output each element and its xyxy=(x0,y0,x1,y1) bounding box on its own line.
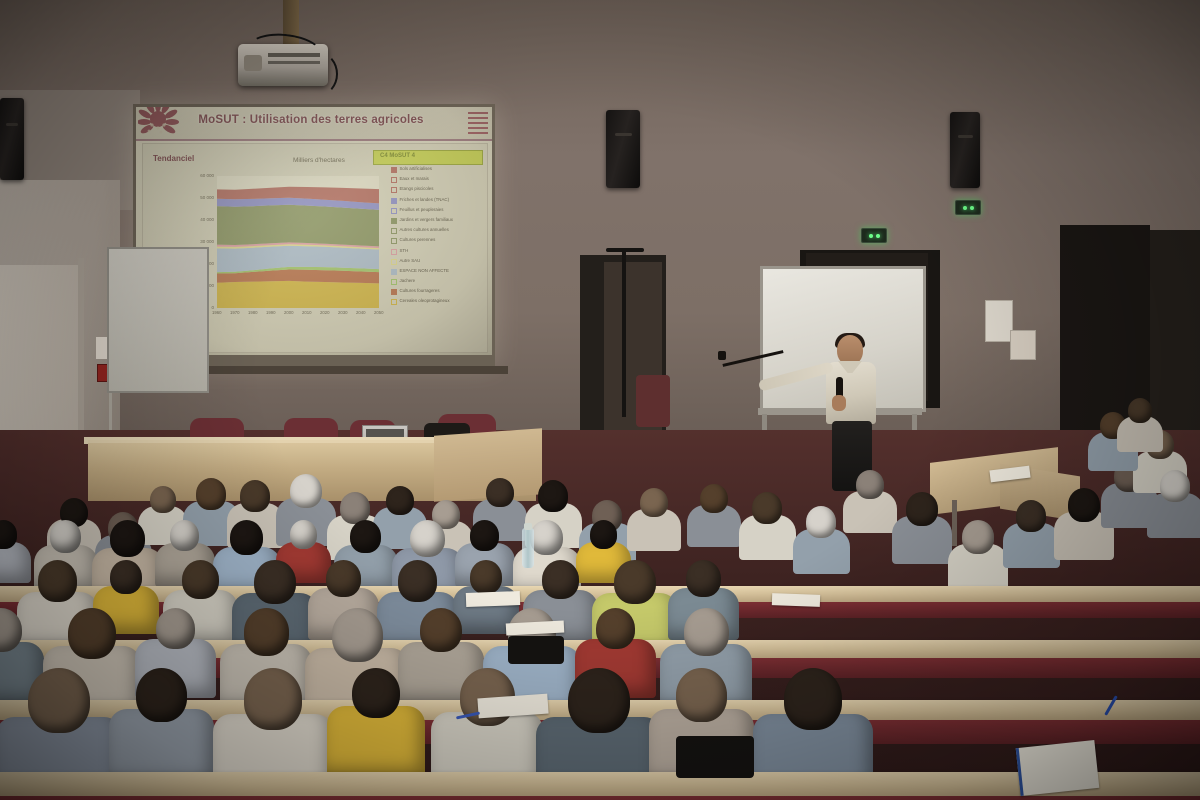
chart-y-tick-label: 30 000 xyxy=(200,239,214,244)
notebook xyxy=(1016,740,1100,796)
slide-title: MoSUT : Utilisation des terres agricoles xyxy=(196,114,426,126)
bag-on-desk xyxy=(508,636,564,664)
audience-member-head xyxy=(538,480,568,512)
legend-label: Cultures fourrageres xyxy=(400,288,440,293)
wall-speaker-right xyxy=(950,112,980,188)
chart-y-tick-label: 40 000 xyxy=(200,217,214,222)
chart-series-group xyxy=(217,176,379,308)
audience-member-head xyxy=(530,520,563,555)
legend-swatch-icon xyxy=(391,218,397,224)
legend-label: Cereales oleoprotagineux xyxy=(400,298,450,303)
audience-member-head xyxy=(752,492,782,524)
chart-x-tick-label: 2020 xyxy=(320,310,330,315)
chart-legend-item: Jardins et vergers familiaux xyxy=(391,217,483,224)
exit-sign-light xyxy=(876,234,880,238)
chart-legend-item: Jachere xyxy=(391,278,483,285)
lecture-hall-photo: MoSUT : Utilisation des terres agricoles… xyxy=(0,0,1200,800)
audience-member-head xyxy=(326,560,361,597)
slide-header: MoSUT : Utilisation des terres agricoles xyxy=(136,107,492,141)
stacked-area-chart: 010 00020 00030 00040 00050 00060 000 19… xyxy=(185,172,385,324)
audience-member-head xyxy=(352,668,400,718)
audience-member-head xyxy=(700,484,728,513)
wall-speaker-left xyxy=(0,98,24,180)
legend-swatch-icon xyxy=(391,289,397,295)
chart-x-tick-label: 1970 xyxy=(230,310,240,315)
chart-legend-item: Eaux et marais xyxy=(391,176,483,183)
chart-legend-item: Autre SAU xyxy=(391,258,483,265)
audience-member-head xyxy=(684,608,729,656)
legend-swatch-icon xyxy=(391,259,397,265)
audience-member-head xyxy=(182,560,219,599)
audience-member-head xyxy=(470,520,499,551)
chart-x-tick-label: 1990 xyxy=(266,310,276,315)
audience-member-head xyxy=(386,486,414,515)
slide-tag-badge: C4 MoSUT 4 xyxy=(373,150,483,165)
audience-member-head xyxy=(38,560,77,602)
chart-x-tick-label: 1980 xyxy=(248,310,258,315)
audience-member-head xyxy=(196,478,226,510)
audience-member-head xyxy=(340,492,370,524)
chart-legend-item: STH xyxy=(391,248,483,255)
audience-member-head xyxy=(28,668,90,733)
legend-swatch-icon xyxy=(391,299,397,305)
slide-decor-bars xyxy=(468,112,488,137)
audience-member-head xyxy=(290,474,322,508)
exit-sign-light xyxy=(970,206,974,210)
audience-member-head xyxy=(136,668,187,722)
legend-label: Etangs piscicoles xyxy=(400,186,434,191)
legend-swatch-icon xyxy=(391,238,397,244)
audience-member-head xyxy=(962,520,994,554)
emergency-exit-sign xyxy=(861,228,887,243)
chart-legend-item: Feuillus et peupleraies xyxy=(391,207,483,214)
chart-x-tick-label: 2000 xyxy=(284,310,294,315)
legend-label: Autre SAU xyxy=(400,258,421,263)
audience-member-head xyxy=(470,560,502,594)
chart-unit-label: Milliers d'hectares xyxy=(293,157,345,164)
audience-member-head xyxy=(240,480,270,512)
chart-x-tick-label: 1960 xyxy=(212,310,222,315)
pointer-tip xyxy=(718,351,726,360)
exit-sign-light xyxy=(963,206,967,210)
desk-front-panel xyxy=(0,796,1200,800)
chart-plot-area xyxy=(217,176,379,308)
audience-member-head xyxy=(254,560,296,604)
audience-member-head xyxy=(596,608,635,649)
audience-member-head xyxy=(590,520,617,549)
audience-member-head xyxy=(676,668,727,722)
audience-member-head xyxy=(486,478,514,507)
presenter-hand xyxy=(832,395,846,411)
legend-swatch-icon xyxy=(391,177,397,183)
chart-x-tick-label: 2010 xyxy=(302,310,312,315)
legend-swatch-icon xyxy=(391,269,397,275)
papers-on-desk xyxy=(466,591,520,607)
audience-member-head xyxy=(806,506,836,538)
sunflower-logo-icon xyxy=(138,107,190,143)
chart-x-tick-label: 2030 xyxy=(338,310,348,315)
chart-legend-item: Cultures perennes xyxy=(391,237,483,244)
legend-label: Feuillus et peupleraies xyxy=(400,207,444,212)
legend-swatch-icon xyxy=(391,228,397,234)
legend-label: Friches et landes (TNAC) xyxy=(400,197,450,202)
wall-speaker-center xyxy=(606,110,640,188)
legend-label: Jardins et vergers familiaux xyxy=(400,217,453,222)
chart-x-tick-label: 2050 xyxy=(374,310,384,315)
legend-swatch-icon xyxy=(391,187,397,193)
audience-member-head xyxy=(1128,398,1152,423)
audience-member-head xyxy=(110,560,142,594)
chart-y-tick-label: 50 000 xyxy=(200,195,214,200)
audience-member-head xyxy=(1016,500,1046,532)
bottle-cap xyxy=(524,523,532,530)
legend-swatch-icon xyxy=(391,198,397,204)
audience-member-head xyxy=(230,520,263,555)
legend-label: Sols artificialises xyxy=(400,166,432,171)
legend-label: Eaux et marais xyxy=(400,176,429,181)
audience-member-head xyxy=(68,608,116,659)
wall-poster xyxy=(1010,330,1036,360)
chart-area-band xyxy=(217,205,379,247)
audience-member-head xyxy=(542,560,579,599)
papers-on-desk xyxy=(772,593,820,607)
bag-on-desk xyxy=(676,736,754,778)
water-bottle xyxy=(522,528,534,568)
presenter-head xyxy=(837,335,863,365)
audience-member-head xyxy=(150,486,176,513)
legend-label: STH xyxy=(400,248,409,253)
whiteboard-left xyxy=(107,247,209,393)
audience-member-head xyxy=(686,560,721,597)
audience-member-head xyxy=(170,520,199,551)
audience-member-head xyxy=(244,668,302,730)
speaker-grill xyxy=(958,135,973,138)
audience-member-head xyxy=(332,608,383,662)
legend-swatch-icon xyxy=(391,208,397,214)
legend-label: Autres cultures annuelles xyxy=(400,227,449,232)
chart-legend-item: Autres cultures annuelles xyxy=(391,227,483,234)
speaker-grill xyxy=(615,133,632,136)
legend-label: ESPACE NON AFFECTE xyxy=(400,268,449,273)
chart-legend: Sols artificialisesEaux et maraisEtangs … xyxy=(391,166,483,309)
emergency-exit-sign xyxy=(955,200,981,215)
legend-swatch-icon xyxy=(391,249,397,255)
legend-swatch-icon xyxy=(391,279,397,285)
audience-member-head xyxy=(1068,488,1100,522)
audience-member-head xyxy=(350,520,381,553)
side-table-leg xyxy=(952,500,957,546)
chart-legend-item: ESPACE NON AFFECTE xyxy=(391,268,483,275)
coat-stand xyxy=(622,252,626,417)
audience-member-head xyxy=(290,520,317,549)
chart-x-tick-label: 2040 xyxy=(356,310,366,315)
audience-member-head xyxy=(244,608,289,656)
audience-member-head xyxy=(410,520,445,557)
audience-member-head xyxy=(1160,470,1190,502)
slide-tag-label: C4 MoSUT 4 xyxy=(380,153,415,159)
chart-area-band xyxy=(217,281,379,308)
audience-member-head xyxy=(156,608,195,649)
wall-poster xyxy=(985,300,1013,342)
chart-legend-item: Friches et landes (TNAC) xyxy=(391,197,483,204)
legend-label: Cultures perennes xyxy=(400,237,436,242)
legend-label: Jachere xyxy=(400,278,416,283)
chair-red[interactable] xyxy=(636,375,670,427)
audience-member-head xyxy=(784,668,842,730)
presenter xyxy=(800,335,910,495)
exit-sign-light xyxy=(869,234,873,238)
audience-member-head xyxy=(640,488,668,517)
audience-member-head xyxy=(50,520,81,553)
audience-member-head xyxy=(420,608,462,652)
legend-swatch-icon xyxy=(391,167,397,173)
speaker-grill xyxy=(6,123,18,126)
chart-x-axis: 1960197019801990200020102020203020402050 xyxy=(217,310,387,320)
audience-member-head xyxy=(568,668,630,733)
audience-member-head xyxy=(856,470,884,499)
audience-member-head xyxy=(614,560,656,604)
projector-cable xyxy=(300,52,338,96)
chart-legend-item: Cultures fourrageres xyxy=(391,288,483,295)
slide-subtitle: Tendanciel xyxy=(153,154,194,163)
chart-legend-item: Cereales oleoprotagineux xyxy=(391,298,483,305)
chart-legend-item: Etangs piscicoles xyxy=(391,186,483,193)
audience-member-head xyxy=(110,520,145,557)
chart-legend-item: Sols artificialises xyxy=(391,166,483,173)
audience-member-head xyxy=(398,560,437,602)
audience-member-head xyxy=(906,492,938,526)
chart-y-tick-label: 60 000 xyxy=(200,173,214,178)
